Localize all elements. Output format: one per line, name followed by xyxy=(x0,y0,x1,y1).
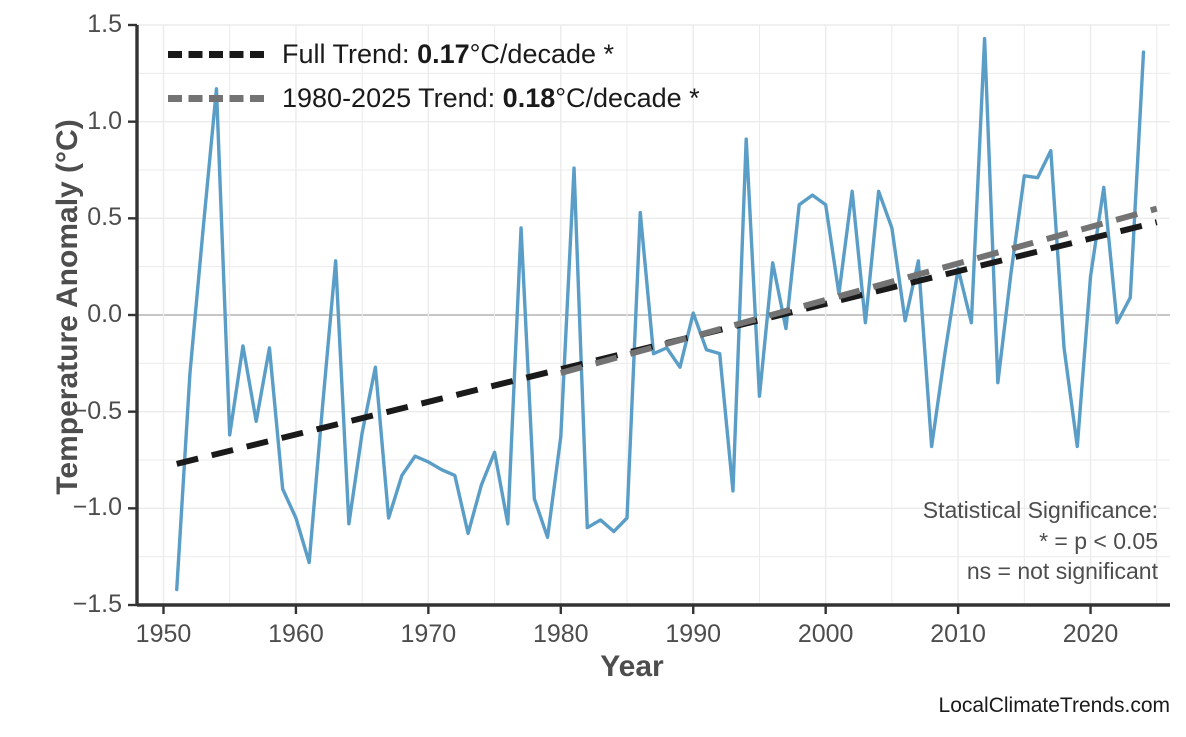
x-axis-tick-label: 1990 xyxy=(633,622,753,647)
legend-item-recent-trend: 1980-2025 Trend: 0.18°C/decade * xyxy=(168,76,700,120)
legend-full-prefix: Full Trend: xyxy=(282,39,417,69)
significance-ns: ns = not significant xyxy=(923,556,1158,587)
legend-item-full-trend: Full Trend: 0.17°C/decade * xyxy=(168,32,700,76)
legend-recent-prefix: 1980-2025 Trend: xyxy=(282,83,503,113)
legend-key-full-trend xyxy=(168,51,264,58)
legend-recent-value: 0.18 xyxy=(503,83,556,113)
x-axis-tick-label: 2020 xyxy=(1031,622,1151,647)
x-axis-tick-label: 1960 xyxy=(236,622,356,647)
x-axis-tick-label: 2010 xyxy=(898,622,1018,647)
climate-trend-chart: Temperature Anomaly (°C) 1.51.00.50.0−0.… xyxy=(0,0,1186,737)
significance-title: Statistical Significance: xyxy=(923,495,1158,526)
x-axis-tick-label: 1980 xyxy=(501,622,621,647)
x-axis-tick-labels: 19501960197019801990200020102020 xyxy=(0,614,1186,654)
significance-star: * = p < 0.05 xyxy=(923,526,1158,557)
legend-key-recent-trend xyxy=(168,95,264,102)
x-axis-tick-label: 1950 xyxy=(103,622,223,647)
legend-full-value: 0.17 xyxy=(417,39,470,69)
x-axis-title: Year xyxy=(137,650,1127,684)
significance-annotation: Statistical Significance: * = p < 0.05 n… xyxy=(923,495,1158,587)
legend-label-full-trend: Full Trend: 0.17°C/decade * xyxy=(282,39,614,70)
legend-label-recent-trend: 1980-2025 Trend: 0.18°C/decade * xyxy=(282,83,700,114)
watermark-credit: LocalClimateTrends.com xyxy=(939,694,1170,718)
legend-full-suffix: °C/decade * xyxy=(470,39,614,69)
legend: Full Trend: 0.17°C/decade * 1980-2025 Tr… xyxy=(168,32,700,120)
x-axis-tick-label: 2000 xyxy=(766,622,886,647)
legend-recent-suffix: °C/decade * xyxy=(555,83,699,113)
x-axis-tick-label: 1970 xyxy=(368,622,488,647)
